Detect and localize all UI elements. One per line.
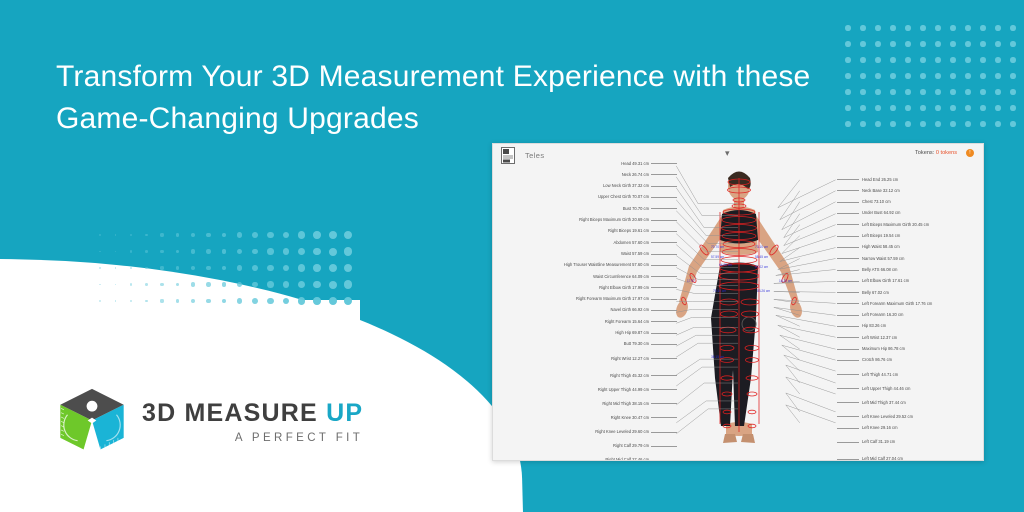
decorative-dot: [206, 233, 210, 237]
decorative-dot: [99, 267, 100, 268]
decorative-dot: [206, 282, 210, 286]
decorative-dot: [905, 121, 910, 126]
decorative-dot: [130, 234, 132, 236]
page-title: Transform Your 3D Measurement Experience…: [56, 56, 816, 140]
decorative-dot: [920, 105, 925, 110]
decorative-dot: [1010, 73, 1015, 78]
decorative-dot: [160, 283, 163, 286]
decorative-dot: [283, 298, 290, 305]
decorative-dot: [252, 249, 258, 255]
decorative-dot: [845, 89, 850, 94]
app-screenshot-panel[interactable]: Teles ▾ Tokens: 0 tokens !: [492, 143, 984, 461]
decorative-dot: [950, 121, 955, 126]
decorative-dot: [206, 299, 210, 303]
leader-line: [651, 460, 677, 461]
decorative-dot: [905, 41, 910, 46]
decorative-dot: [1010, 25, 1015, 30]
decorative-dot: [950, 89, 955, 94]
decorative-dot: [995, 25, 1000, 30]
decorative-dot: [980, 57, 985, 62]
decorative-dot: [298, 231, 305, 238]
decorative-dot: [252, 232, 258, 238]
leader-lines: [493, 144, 983, 461]
decorative-dot: [965, 121, 970, 126]
decorative-dot: [191, 299, 195, 303]
decorative-dot: [950, 41, 955, 46]
decorative-dot: [875, 105, 880, 110]
decorative-dot: [890, 73, 895, 78]
decorative-dot: [890, 41, 895, 46]
decorative-dot: [99, 284, 100, 285]
decorative-dot: [965, 89, 970, 94]
decorative-dot: [890, 105, 895, 110]
logo-wordmark-main: 3D MEASURE: [142, 399, 326, 427]
decorative-dot: [845, 73, 850, 78]
decorative-dot: [845, 121, 850, 126]
decorative-dot: [980, 89, 985, 94]
decorative-dot: [329, 297, 337, 305]
decorative-dot: [935, 89, 940, 94]
decorative-dot: [267, 281, 273, 287]
decorative-dot: [222, 233, 227, 238]
decorative-dot: [298, 297, 305, 304]
decorative-dot: [191, 249, 195, 253]
decorative-dot: [890, 25, 895, 30]
decorative-dot: [935, 57, 940, 62]
decorative-dot: [950, 57, 955, 62]
decorative-dot: [980, 41, 985, 46]
decorative-dot: [267, 265, 273, 271]
background-bottom-fill: [0, 470, 470, 512]
decorative-dot: [905, 89, 910, 94]
decorative-dot: [283, 232, 290, 239]
decorative-dot: [890, 121, 895, 126]
decorative-dot: [283, 281, 290, 288]
decorative-dot: [935, 121, 940, 126]
decorative-dot: [313, 231, 321, 239]
decorative-dot: [860, 73, 865, 78]
decorative-dot: [1010, 41, 1015, 46]
decorative-dot: [845, 105, 850, 110]
decorative-dot: [99, 300, 100, 301]
decorative-dot: [313, 264, 321, 272]
decorative-dot: [965, 25, 970, 30]
decorative-dot: [160, 266, 163, 269]
decorative-dot: [950, 25, 955, 30]
decorative-dot: [890, 57, 895, 62]
decorative-dot: [905, 57, 910, 62]
decorative-dot: [1010, 121, 1015, 126]
decorative-dot: [995, 73, 1000, 78]
logo-wordmark-accent: UP: [326, 399, 363, 427]
decorative-dot: [965, 73, 970, 78]
decorative-dot: [267, 232, 273, 238]
decorative-dot: [920, 25, 925, 30]
decorative-dot: [115, 267, 117, 269]
decorative-dot: [935, 73, 940, 78]
decorative-dot: [222, 299, 227, 304]
decorative-dot: [965, 105, 970, 110]
decorative-dot: [920, 121, 925, 126]
decorative-dot: [222, 266, 227, 271]
decorative-dot: [980, 121, 985, 126]
decorative-dot: [875, 41, 880, 46]
decorative-dot: [860, 89, 865, 94]
decorative-dot: [191, 233, 195, 237]
decorative-dot: [980, 105, 985, 110]
decorative-dot: [860, 121, 865, 126]
decorative-dot: [115, 251, 117, 253]
logo-wordmark: 3D MEASURE UP: [142, 401, 363, 426]
decorative-dot: [191, 266, 195, 270]
decorative-dot: [145, 283, 148, 286]
decorative-dot: [1010, 89, 1015, 94]
decorative-dot: [920, 41, 925, 46]
decorative-dot: [130, 267, 132, 269]
decorative-dot: [905, 105, 910, 110]
decorative-dot: [995, 89, 1000, 94]
decorative-dot: [995, 121, 1000, 126]
decorative-dot: [298, 248, 305, 255]
decorative-dot: [950, 73, 955, 78]
decorative-dot: [875, 73, 880, 78]
decorative-dot: [115, 284, 117, 286]
decorative-dot: [1010, 105, 1015, 110]
decorative-dot: [313, 297, 321, 305]
decorative-dot: [875, 89, 880, 94]
decorative-dot: [206, 249, 210, 253]
decorative-dot: [1010, 57, 1015, 62]
decorative-dot: [298, 281, 305, 288]
decorative-dot: [980, 25, 985, 30]
decorative-dot: [344, 264, 352, 272]
decorative-dot: [176, 283, 180, 287]
decorative-dot: [176, 250, 180, 254]
decorative-dot: [237, 282, 242, 287]
decorative-dot: [860, 105, 865, 110]
cube-logo-icon: [56, 386, 128, 458]
decorative-dot: [860, 57, 865, 62]
decorative-dot: [267, 248, 273, 254]
decorative-dot: [115, 300, 117, 302]
decorative-dot: [845, 57, 850, 62]
decorative-dot: [130, 250, 132, 252]
decorative-dot: [191, 282, 195, 286]
decorative-dot: [980, 73, 985, 78]
decorative-dot: [860, 41, 865, 46]
decorative-dot: [252, 298, 258, 304]
decorative-dot: [920, 73, 925, 78]
decorative-dot: [237, 298, 242, 303]
decorative-dot: [875, 121, 880, 126]
decorative-dot: [176, 299, 180, 303]
decorative-dot: [920, 57, 925, 62]
decorative-dot: [99, 234, 100, 235]
decorative-dot: [160, 299, 163, 302]
decorative-dot: [160, 233, 163, 236]
decorative-dot: [313, 248, 321, 256]
decorative-dot: [995, 41, 1000, 46]
decorative-dot: [145, 300, 148, 303]
decorative-dot: [344, 280, 352, 288]
decorative-dot: [176, 233, 180, 237]
decorative-dot: [298, 264, 305, 271]
hero-banner: Transform Your 3D Measurement Experience…: [0, 0, 1024, 512]
decorative-dot: [160, 250, 163, 253]
decorative-dot: [237, 265, 242, 270]
decorative-dot: [860, 25, 865, 30]
decorative-dot: [890, 89, 895, 94]
decorative-dot: [935, 25, 940, 30]
decorative-dot: [329, 248, 337, 256]
decorative-dot: [252, 282, 258, 288]
decorative-dot: [995, 57, 1000, 62]
decorative-dot: [935, 105, 940, 110]
decorative-dot: [283, 248, 290, 255]
decorative-dot: [115, 234, 117, 236]
brand-logo: 3D MEASURE UP A PERFECT FIT: [56, 386, 363, 458]
decorative-dot: [905, 25, 910, 30]
decorative-dot-grid-left: [100, 235, 368, 325]
decorative-dot: [130, 300, 132, 302]
decorative-dot: [145, 250, 148, 253]
decorative-dot: [935, 41, 940, 46]
decorative-dot: [252, 265, 258, 271]
decorative-dot: [329, 281, 337, 289]
decorative-dot: [905, 73, 910, 78]
decorative-dot: [237, 232, 242, 237]
decorative-dot: [950, 105, 955, 110]
decorative-dot: [329, 231, 337, 239]
decorative-dot: [222, 282, 227, 287]
decorative-dot: [845, 25, 850, 30]
decorative-dot-grid-top-right: [848, 28, 1024, 144]
decorative-dot: [267, 298, 273, 304]
decorative-dot: [176, 266, 180, 270]
decorative-dot: [920, 89, 925, 94]
decorative-dot: [344, 231, 352, 239]
decorative-dot: [344, 297, 352, 305]
decorative-dot: [222, 249, 227, 254]
decorative-dot: [875, 25, 880, 30]
decorative-dot: [99, 251, 100, 252]
decorative-dot: [206, 266, 210, 270]
decorative-dot: [283, 265, 290, 272]
decorative-dot: [145, 267, 148, 270]
decorative-dot: [965, 41, 970, 46]
decorative-dot: [995, 105, 1000, 110]
decorative-dot: [329, 264, 337, 272]
decorative-dot: [875, 57, 880, 62]
decorative-dot: [344, 247, 352, 255]
decorative-dot: [237, 249, 242, 254]
decorative-dot: [313, 281, 321, 289]
logo-tagline: A PERFECT FIT: [142, 432, 363, 444]
decorative-dot: [130, 283, 132, 285]
decorative-dot: [145, 234, 148, 237]
decorative-dot: [965, 57, 970, 62]
decorative-dot: [845, 41, 850, 46]
